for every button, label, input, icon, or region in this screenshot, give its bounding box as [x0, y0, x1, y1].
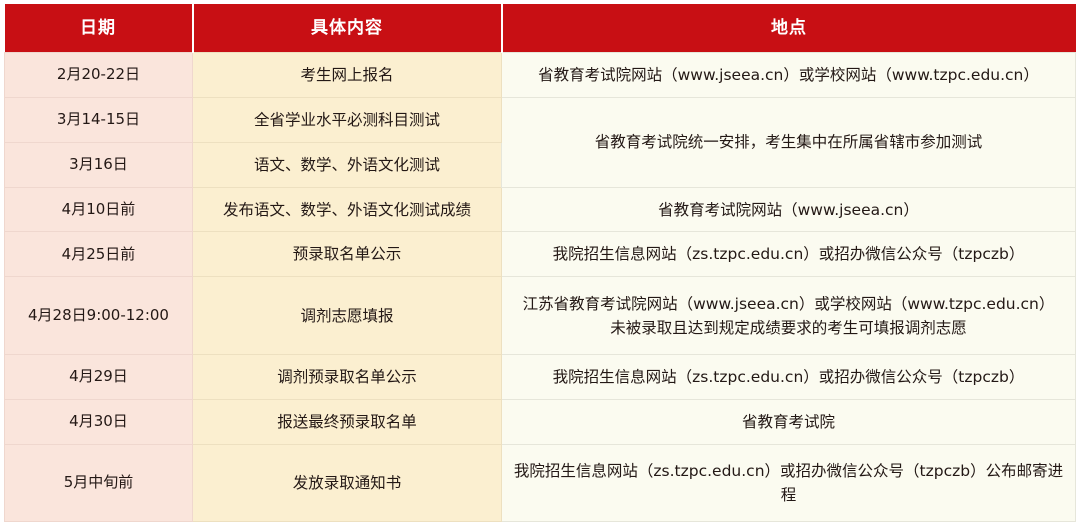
table-row: 4月29日调剂预录取名单公示我院招生信息网站（zs.tzpc.edu.cn）或招… [5, 354, 1076, 399]
cell-date: 4月30日 [5, 399, 193, 444]
cell-place-line: 省教育考试院网站（www.jseea.cn） [510, 198, 1067, 222]
cell-detail: 发放录取通知书 [193, 444, 502, 522]
cell-detail: 考生网上报名 [193, 53, 502, 98]
cell-place-line: 省教育考试院网站（www.jseea.cn）或学校网站（www.tzpc.edu… [510, 63, 1067, 87]
table-row: 2月20-22日考生网上报名省教育考试院网站（www.jseea.cn）或学校网… [5, 53, 1076, 98]
cell-detail: 报送最终预录取名单 [193, 399, 502, 444]
cell-detail: 语文、数学、外语文化测试 [193, 142, 502, 187]
cell-place-line: 我院招生信息网站（zs.tzpc.edu.cn）或招办微信公众号（tzpczb） [510, 365, 1067, 389]
cell-detail: 发布语文、数学、外语文化测试成绩 [193, 187, 502, 232]
cell-date: 4月28日9:00-12:00 [5, 277, 193, 354]
schedule-table-container: 日期 具体内容 地点 2月20-22日考生网上报名省教育考试院网站（www.js… [0, 0, 1080, 524]
cell-detail: 全省学业水平必测科目测试 [193, 97, 502, 142]
table-header: 日期 具体内容 地点 [5, 4, 1076, 53]
table-row: 5月中旬前发放录取通知书我院招生信息网站（zs.tzpc.edu.cn）或招办微… [5, 444, 1076, 522]
cell-date: 4月29日 [5, 354, 193, 399]
header-date: 日期 [5, 4, 193, 53]
cell-place: 省教育考试院 [502, 399, 1076, 444]
cell-place-line: 我院招生信息网站（zs.tzpc.edu.cn）或招办微信公众号（tzpczb） [510, 242, 1067, 266]
table-row: 4月10日前发布语文、数学、外语文化测试成绩省教育考试院网站（www.jseea… [5, 187, 1076, 232]
table-body: 2月20-22日考生网上报名省教育考试院网站（www.jseea.cn）或学校网… [5, 53, 1076, 522]
cell-date: 3月16日 [5, 142, 193, 187]
cell-place: 江苏省教育考试院网站（www.jseea.cn）或学校网站（www.tzpc.e… [502, 277, 1076, 354]
table-row: 4月28日9:00-12:00调剂志愿填报江苏省教育考试院网站（www.jsee… [5, 277, 1076, 354]
header-detail: 具体内容 [193, 4, 502, 53]
cell-date: 5月中旬前 [5, 444, 193, 522]
cell-detail: 调剂预录取名单公示 [193, 354, 502, 399]
header-place: 地点 [502, 4, 1076, 53]
cell-detail: 预录取名单公示 [193, 232, 502, 277]
cell-place-line: 我院招生信息网站（zs.tzpc.edu.cn）或招办微信公众号（tzpczb）… [510, 459, 1067, 507]
cell-place-line: 未被录取且达到规定成绩要求的考生可填报调剂志愿 [510, 316, 1067, 340]
cell-place-line: 省教育考试院 [510, 410, 1067, 434]
cell-date: 4月10日前 [5, 187, 193, 232]
cell-detail: 调剂志愿填报 [193, 277, 502, 354]
cell-place-line: 江苏省教育考试院网站（www.jseea.cn）或学校网站（www.tzpc.e… [510, 292, 1067, 316]
cell-place: 省教育考试院网站（www.jseea.cn） [502, 187, 1076, 232]
cell-date: 3月14-15日 [5, 97, 193, 142]
table-row: 3月14-15日全省学业水平必测科目测试省教育考试院统一安排，考生集中在所属省辖… [5, 97, 1076, 142]
cell-place: 省教育考试院网站（www.jseea.cn）或学校网站（www.tzpc.edu… [502, 53, 1076, 98]
cell-date: 2月20-22日 [5, 53, 193, 98]
cell-place: 我院招生信息网站（zs.tzpc.edu.cn）或招办微信公众号（tzpczb） [502, 232, 1076, 277]
table-row: 4月30日报送最终预录取名单省教育考试院 [5, 399, 1076, 444]
table-row: 4月25日前预录取名单公示我院招生信息网站（zs.tzpc.edu.cn）或招办… [5, 232, 1076, 277]
cell-place-line: 省教育考试院统一安排，考生集中在所属省辖市参加测试 [510, 130, 1067, 154]
admission-schedule-table: 日期 具体内容 地点 2月20-22日考生网上报名省教育考试院网站（www.js… [4, 4, 1076, 522]
cell-place: 我院招生信息网站（zs.tzpc.edu.cn）或招办微信公众号（tzpczb） [502, 354, 1076, 399]
cell-place: 省教育考试院统一安排，考生集中在所属省辖市参加测试 [502, 97, 1076, 187]
cell-place: 我院招生信息网站（zs.tzpc.edu.cn）或招办微信公众号（tzpczb）… [502, 444, 1076, 522]
cell-date: 4月25日前 [5, 232, 193, 277]
table-header-row: 日期 具体内容 地点 [5, 4, 1076, 53]
